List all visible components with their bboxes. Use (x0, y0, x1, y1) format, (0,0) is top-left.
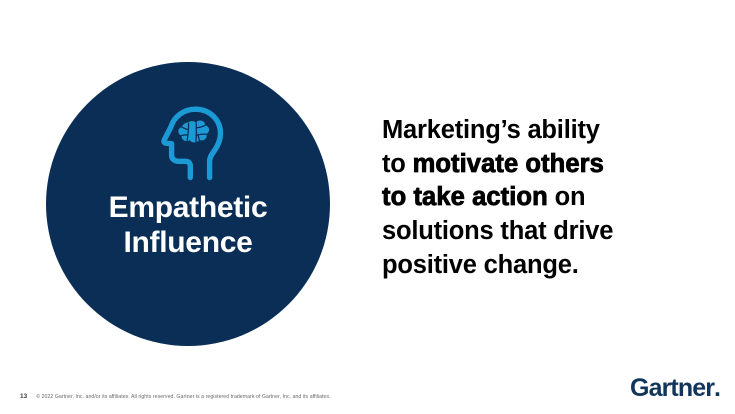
gartner-logo: Gartner. (630, 376, 721, 401)
copyright-notice: © 2022 Gartner, Inc. and/or its affiliat… (36, 394, 330, 400)
body-line-2: to motivate others (382, 148, 682, 182)
body-segment: solutions that drive (382, 217, 613, 245)
badge-title: Empathetic Influence (46, 190, 330, 261)
body-segment: Marketing’s ability (382, 116, 600, 144)
footer: 13 © 2022 Gartner, Inc. and/or its affil… (20, 393, 331, 400)
gartner-logo-text: Gartner (630, 374, 714, 402)
badge-title-line-1: Empathetic (46, 190, 330, 225)
gartner-logo-dot: . (714, 374, 721, 402)
body-segment: to (382, 150, 413, 178)
empathetic-influence-badge: Empathetic Influence (46, 62, 330, 346)
body-segment-emphasis: motivate others (413, 150, 604, 178)
body-line-5: positive change. (382, 249, 682, 283)
body-copy: Marketing’s ability to motivate others t… (382, 114, 682, 282)
badge-title-line-2: Influence (46, 225, 330, 260)
page-number: 13 (20, 393, 27, 400)
head-with-brain-icon (151, 106, 225, 182)
body-line-4: solutions that drive (382, 215, 682, 249)
body-line-1: Marketing’s ability (382, 114, 682, 148)
body-line-3: to take action on (382, 181, 682, 215)
slide-canvas: Empathetic Influence Marketing’s ability… (0, 0, 735, 414)
body-segment-emphasis: to take action (382, 183, 548, 211)
body-segment: positive change. (382, 251, 579, 279)
body-segment: on (548, 183, 586, 211)
